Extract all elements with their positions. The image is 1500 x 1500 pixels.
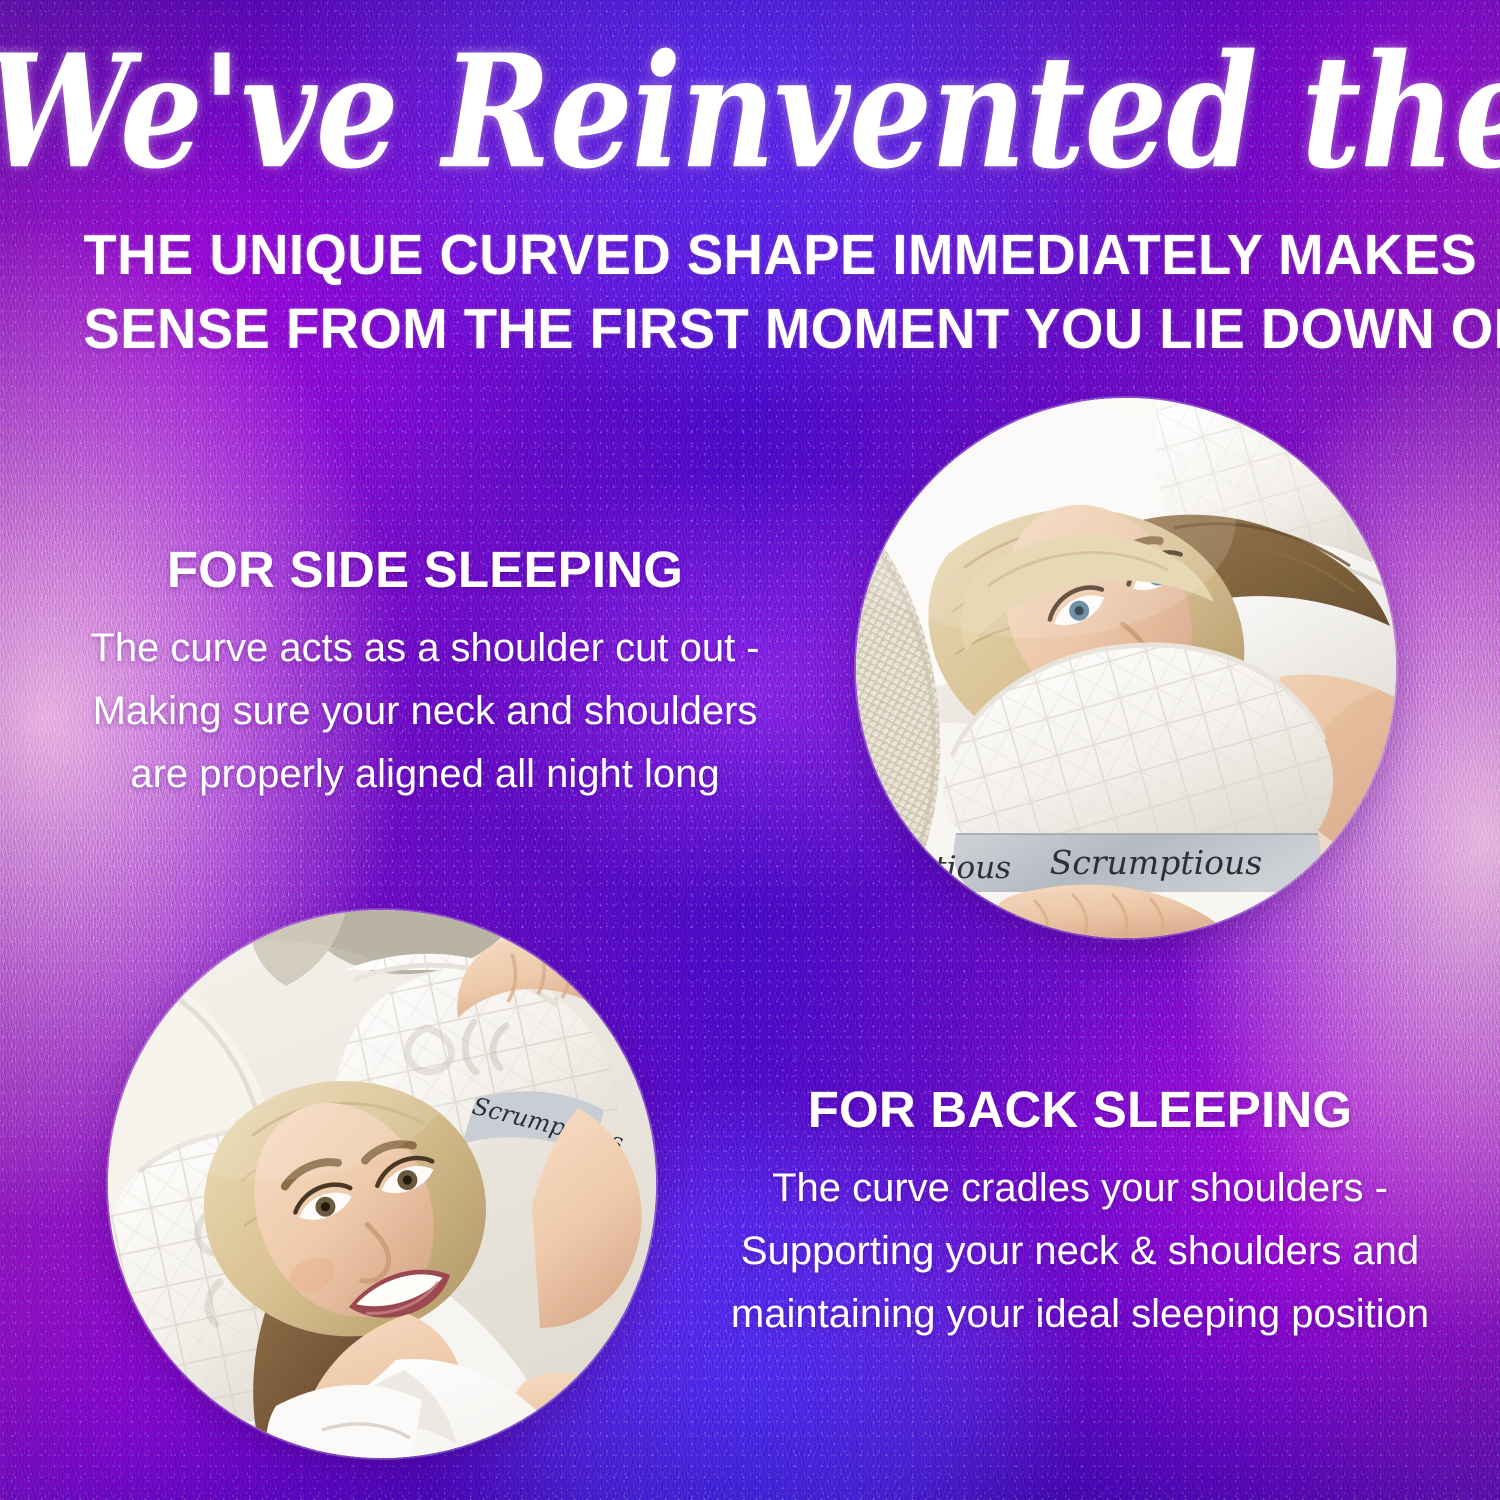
side-sleeping-title: FOR SIDE SLEEPING — [0, 540, 850, 599]
headline: We've Reinvented the Rectangle — [0, 26, 1500, 201]
back-sleeping-title: FOR BACK SLEEPING — [660, 1080, 1500, 1139]
side-sleeping-line-2: Making sure your neck and shoulders — [0, 680, 850, 743]
back-sleeping-line-2: Supporting your neck & shoulders and — [660, 1220, 1500, 1283]
side-sleeping-body: The curve acts as a shoulder cut out - M… — [0, 617, 850, 807]
back-sleeping-line-1: The curve cradles your shoulders - — [660, 1157, 1500, 1220]
side-sleeping-photo: Scrumptious mptious — [856, 398, 1396, 938]
back-sleeping-line-3: maintaining your ideal sleeping position — [660, 1283, 1500, 1346]
side-sleeping-block: FOR SIDE SLEEPING The curve acts as a sh… — [0, 540, 850, 807]
side-sleeping-line-3: are properly aligned all night long — [0, 743, 850, 806]
back-sleeping-photo: Scrumptious — [108, 910, 656, 1458]
subheadline: THE UNIQUE CURVED SHAPE IMMEDIATELY MAKE… — [83, 218, 1416, 366]
back-sleeping-block: FOR BACK SLEEPING The curve cradles your… — [660, 1080, 1500, 1347]
side-sleeping-line-1: The curve acts as a shoulder cut out - — [0, 617, 850, 680]
subheadline-line-2: SENSE FROM THE FIRST MOMENT YOU LIE DOWN… — [83, 292, 1416, 366]
promo-graphic: We've Reinvented the Rectangle THE UNIQU… — [0, 0, 1500, 1500]
back-sleeping-body: The curve cradles your shoulders - Suppo… — [660, 1157, 1500, 1347]
subheadline-line-1: THE UNIQUE CURVED SHAPE IMMEDIATELY MAKE… — [83, 218, 1416, 292]
pillow-brand-label: Scrumptious — [1050, 843, 1262, 882]
